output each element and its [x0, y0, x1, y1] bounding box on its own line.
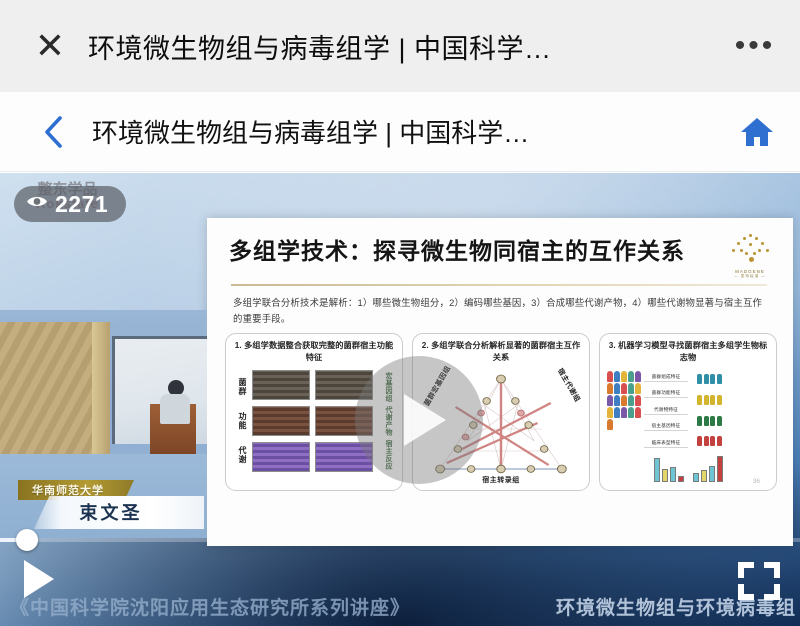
fullscreen-corner-tl	[738, 562, 754, 578]
panel-3-feature-list: 菌群组成特征 菌群功能特征 代谢物特征 宿主基因特征 临床表型特征	[644, 369, 688, 452]
panel-3-bar-charts	[605, 452, 771, 482]
home-icon[interactable]	[714, 116, 800, 148]
panel-1-row-label: 菌群	[233, 371, 248, 403]
panel-3-cluster-row	[697, 374, 769, 384]
view-count-badge: 2271	[14, 186, 126, 222]
panel-3-diagram: 菌群组成特征 菌群功能特征 代谢物特征 宿主基因特征 临床表型特征	[605, 364, 771, 452]
speaker-name: 束文圣	[34, 496, 204, 529]
panel-1-row-label: 功能	[233, 405, 248, 437]
panel-3-cluster-row	[697, 436, 769, 446]
player-controls	[0, 548, 800, 626]
view-count-value: 2271	[55, 191, 108, 218]
page-nav-bar: 环境微生物组与病毒组学 | 中国科学…	[0, 92, 800, 172]
panel-3-feature: 代谢物特征	[644, 406, 688, 415]
panel-3-barset-right	[693, 456, 723, 482]
close-icon[interactable]: ✕	[18, 28, 82, 64]
pip-wall-trim	[92, 322, 110, 454]
fullscreen-corner-br	[764, 584, 780, 600]
back-icon[interactable]	[22, 115, 84, 149]
panel-2-axis-bottom: 宿主转录组	[482, 475, 520, 485]
panel-3-feature: 菌群组成特征	[644, 373, 688, 382]
slide-page-number: 36	[753, 478, 760, 485]
eye-icon	[26, 194, 48, 214]
play-icon	[404, 394, 446, 446]
nav-page-title: 环境微生物组与病毒组学 | 中国科学…	[84, 113, 714, 150]
chrome-page-title: 环境微生物组与病毒组学 | 中国科学…	[82, 27, 710, 66]
panel-3-feature: 菌群功能特征	[644, 389, 688, 398]
panel-3-feature: 宿主基因特征	[644, 422, 688, 431]
panel-3-cluster-row	[697, 395, 769, 405]
panel-3-barset-left	[654, 456, 684, 482]
panel-1-heatmap-column	[252, 370, 310, 472]
panel-3-clusters	[691, 369, 769, 452]
heatmap-tile	[252, 442, 310, 472]
fullscreen-icon[interactable]	[738, 562, 780, 600]
panel-1-row-labels: 菌群 功能 代谢	[233, 370, 248, 472]
slide-panels: 1. 多组学数据整合获取完整的菌群宿主功能特征 菌群 功能 代谢	[207, 326, 793, 491]
slide-title: 多组学技术：探寻微生物同宿主的互作关系	[229, 232, 723, 266]
logo-burst-icon	[730, 234, 770, 268]
progress-fill	[0, 538, 18, 542]
panel-3-feature: 临床表型特征	[644, 439, 688, 448]
slide-logo-sub: — 麦特绘谱 —	[723, 274, 777, 279]
progress-handle[interactable]	[16, 529, 38, 551]
panel-1-row-label: 代谢	[233, 439, 248, 471]
fullscreen-corner-bl	[738, 584, 754, 600]
panel-3-population-icons	[607, 369, 641, 452]
panel-3-heading: 3. 机器学习模型寻找菌群宿主多组学生物标志物	[605, 340, 771, 364]
progress-bar[interactable]	[0, 538, 800, 542]
heatmap-tile	[252, 406, 310, 436]
center-play-button[interactable]	[355, 356, 483, 484]
slide-title-row: 多组学技术：探寻微生物同宿主的互作关系 MADGENE — 麦特绘谱 —	[207, 218, 793, 279]
more-options-icon[interactable]: •••	[710, 37, 800, 55]
browser-chrome-bar: ✕ 环境微生物组与病毒组学 | 中国科学… •••	[0, 0, 800, 92]
slide-body-text: 多组学联合分析技术是解析：1）哪些微生物组分，2）编码哪些基因，3）合成哪些代谢…	[207, 286, 793, 326]
slide-logo: MADGENE — 麦特绘谱 —	[723, 232, 777, 279]
panel-machine-learning: 3. 机器学习模型寻找菌群宿主多组学生物标志物 菌群组成特征 菌群功能特征	[599, 333, 777, 491]
fullscreen-corner-tr	[764, 562, 780, 578]
panel-1-heading: 1. 多组学数据整合获取完整的菌群宿主功能特征	[231, 340, 397, 364]
heatmap-tile	[252, 370, 310, 400]
pip-wood-wall	[0, 322, 92, 454]
presentation-slide: 多组学技术：探寻微生物同宿主的互作关系 MADGENE — 麦特绘谱 — 多组学…	[207, 218, 793, 546]
video-page: ✕ 环境微生物组与病毒组学 | 中国科学… ••• 环境微生物组与病毒组学 | …	[0, 0, 800, 626]
play-icon[interactable]	[24, 560, 54, 598]
panel-3-cluster-row	[697, 416, 769, 426]
pip-speaker-body	[160, 394, 190, 424]
pip-room-background	[0, 322, 207, 454]
